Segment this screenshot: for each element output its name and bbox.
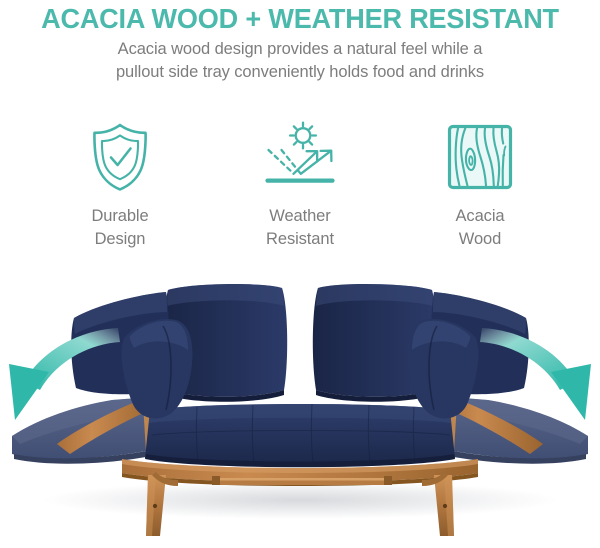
feature-panel: ACACIA WOOD + WEATHER RESISTANT Acacia w… (0, 0, 600, 548)
feature-label-line-2: Wood (456, 228, 505, 251)
sun-reflect-icon (261, 118, 339, 196)
feature-label-durable-design: Durable Design (91, 205, 148, 250)
header-block: ACACIA WOOD + WEATHER RESISTANT Acacia w… (0, 0, 600, 100)
feature-label-line-1: Weather (266, 205, 334, 228)
subtitle-line-2: pullout side tray conveniently holds foo… (50, 61, 550, 84)
seat-cushion (145, 404, 455, 467)
feature-weather-resistant: Weather Resistant (210, 118, 390, 250)
feature-acacia-wood: Acacia Wood (390, 118, 570, 250)
wood-grain-icon (441, 118, 519, 196)
subtitle: Acacia wood design provides a natural fe… (50, 38, 550, 84)
feature-label-line-1: Acacia (456, 205, 505, 228)
feature-label-line-1: Durable (91, 205, 148, 228)
feature-label-line-2: Resistant (266, 228, 334, 251)
feature-label-line-2: Design (91, 228, 148, 251)
subtitle-line-1: Acacia wood design provides a natural fe… (50, 38, 550, 61)
page-title: ACACIA WOOD + WEATHER RESISTANT (5, 2, 596, 36)
feature-label-acacia-wood: Acacia Wood (456, 205, 505, 250)
feature-durable-design: Durable Design (30, 118, 210, 250)
product-photo: Navy blue convertible acacia wood daybed… (0, 268, 600, 548)
shield-check-icon (81, 118, 159, 196)
feature-row: Durable Design (0, 118, 600, 268)
feature-label-weather-resistant: Weather Resistant (266, 205, 334, 250)
